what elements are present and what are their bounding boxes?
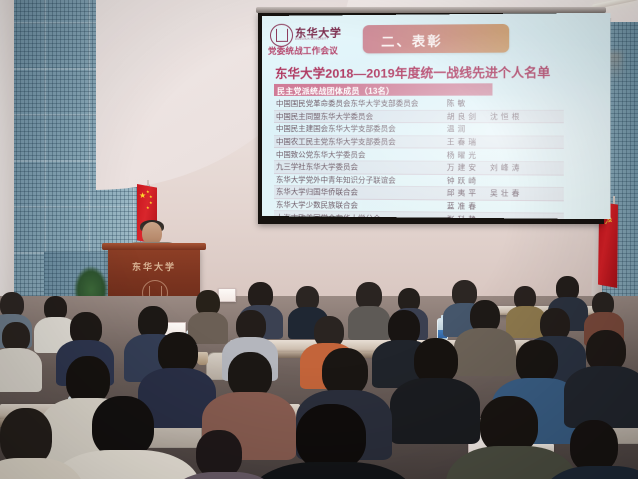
person-head [322,348,368,396]
projection-screen: 东华大学 DONGHUA UNIVERSITY 党委统战工作会议 二、表彰 东华… [262,13,610,219]
award-recipient-names: 王春瑞 [447,136,479,147]
tea-cup[interactable] [197,352,208,365]
slide-award-row: 中国国民党革命委员会东华大学支部委员会陈敏 [274,97,564,110]
slide-award-row: 中国民主建国会东华大学支部委员会温润 [274,123,564,136]
slide-award-row: 中国农工民主党东华大学支部委员会王春瑞 [274,136,564,149]
award-organization: 中国国民党革命委员会东华大学支部委员会 [274,98,447,109]
person-head [570,420,618,472]
person-body [564,366,638,428]
award-recipient-names: 陈敏 [447,98,469,109]
slide-category-label: 民主党派统战团体成员（13名） [277,85,394,96]
logo-university-name-en: DONGHUA UNIVERSITY [295,38,328,41]
award-recipient-names: 钟跃崎 [447,175,479,186]
slide-heading: 东华大学2018—2019年度统一战线先进个人名单 [275,63,550,82]
slide-logo: 东华大学 DONGHUA UNIVERSITY 党委统战工作会议 [268,22,357,57]
award-organization: 东华大学归国华侨联合会 [274,187,447,199]
person-head [296,404,366,470]
logo-conference-subtitle: 党委统战工作会议 [268,44,338,56]
person-head [196,430,242,478]
slide-category-bar: 民主党派统战团体成员（13名） [274,83,492,96]
person-body [348,306,390,340]
slide-award-row: 中国民主同盟东华大学委员会胡良剑 沈恒根 [274,110,564,123]
person-body [390,378,480,444]
flag-star-4: ★ [146,204,150,211]
award-organization: 东华大学党外中青年知识分子联谊会 [274,174,447,186]
award-recipient-names: 杨曜光 [447,149,479,160]
person-body [454,328,516,376]
person-head [92,396,154,458]
projection-screen-frame: 东华大学 DONGHUA UNIVERSITY 党委统战工作会议 二、表彰 东华… [258,12,604,224]
award-recipient-names: 温润 [447,124,469,135]
award-recipient-names: 胡良剑 沈恒根 [447,111,523,122]
award-organization: 九三学社东华大学委员会 [274,161,447,173]
podium-label: 东华大学 [108,260,200,273]
slide-award-row: 中国致公党东华大学委员会杨曜光 [274,148,564,162]
person-body [0,348,42,392]
wall-strip-left [0,0,14,300]
slide-award-list: 中国国民党革命委员会东华大学支部委员会陈敏中国民主同盟东华大学委员会胡良剑 沈恒… [274,97,564,219]
award-organization: 中国致公党东华大学委员会 [274,149,447,161]
award-organization: 中国农工民主党东华大学支部委员会 [274,136,447,148]
podium-top [102,243,206,250]
slide-section-banner: 二、表彰 [363,24,509,53]
person-head [66,356,110,404]
award-organization: 东华大学少数民族联合会 [274,199,447,212]
award-recipient-names: 蓝准春 [447,200,479,211]
award-organization: 中国民主建国会东华大学支部委员会 [274,123,447,134]
slide-section-title: 二、表彰 [381,31,443,51]
award-recipient-names: 邱夷平 吴壮春 [447,188,523,200]
university-emblem-icon [270,24,293,47]
name-placard-4 [218,288,236,302]
award-recipient-names: 张科静 [447,213,479,219]
conference-hall-photo: ★ ★ ★ ★ ★ ☭ 东华大学 DONGHUA UNIVERSITY 党委统战… [0,0,638,479]
award-organization: 中国民主同盟东华大学委员会 [274,111,447,122]
award-recipient-names: 万建安 刘峰涛 [447,162,523,174]
award-organization: 上海市欧美同学会东华大学分会 [274,212,447,219]
